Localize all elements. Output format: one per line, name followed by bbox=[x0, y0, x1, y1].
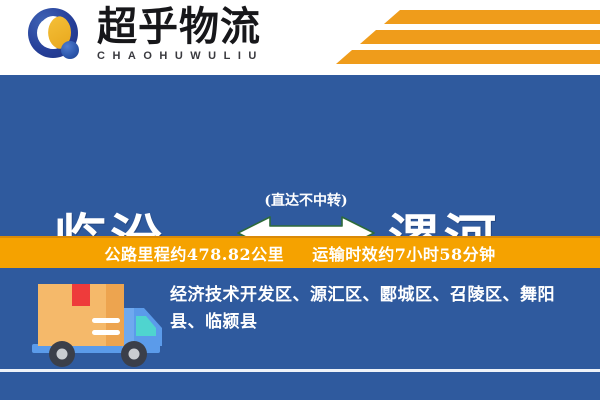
stripe-2 bbox=[360, 30, 600, 44]
brand-name-cn: 超乎物流 bbox=[97, 6, 297, 48]
logistics-route-banner: 超乎物流 CHAOHUWULIU 临汾 (直达不中转) 【往返运输】 漯河 公路… bbox=[0, 0, 600, 400]
brand-name-en: CHAOHUWULIU bbox=[97, 50, 297, 62]
info-bar-text: 公路里程约478.82公里 运输时效约7小时58分钟 bbox=[104, 241, 495, 265]
logo-dot-shape bbox=[61, 41, 79, 59]
circle-crescent-logo-icon bbox=[28, 8, 86, 66]
delivery-truck-icon bbox=[30, 278, 166, 374]
decorative-stripes bbox=[330, 10, 600, 68]
banner-header: 超乎物流 CHAOHUWULIU bbox=[0, 0, 600, 75]
distance-value: 公路里程约478.82公里 bbox=[104, 245, 284, 264]
coverage-districts-text: 经济技术开发区、源汇区、郾城区、召陵区、舞阳县、临颍县 bbox=[170, 282, 578, 336]
route-section: 临汾 (直达不中转) 【往返运输】 漯河 bbox=[0, 75, 600, 236]
stripe-3 bbox=[336, 50, 600, 64]
bottom-divider bbox=[0, 369, 600, 372]
brand-text-block: 超乎物流 CHAOHUWULIU bbox=[97, 6, 297, 62]
coverage-section: 经济技术开发区、源汇区、郾城区、召陵区、舞阳县、临颍县 bbox=[0, 268, 600, 400]
duration-value: 运输时效约7小时58分钟 bbox=[312, 245, 495, 264]
stripe-1 bbox=[384, 10, 600, 24]
direct-route-note: (直达不中转) bbox=[232, 190, 380, 210]
route-info-bar: 公路里程约478.82公里 运输时效约7小时58分钟 bbox=[0, 236, 600, 268]
